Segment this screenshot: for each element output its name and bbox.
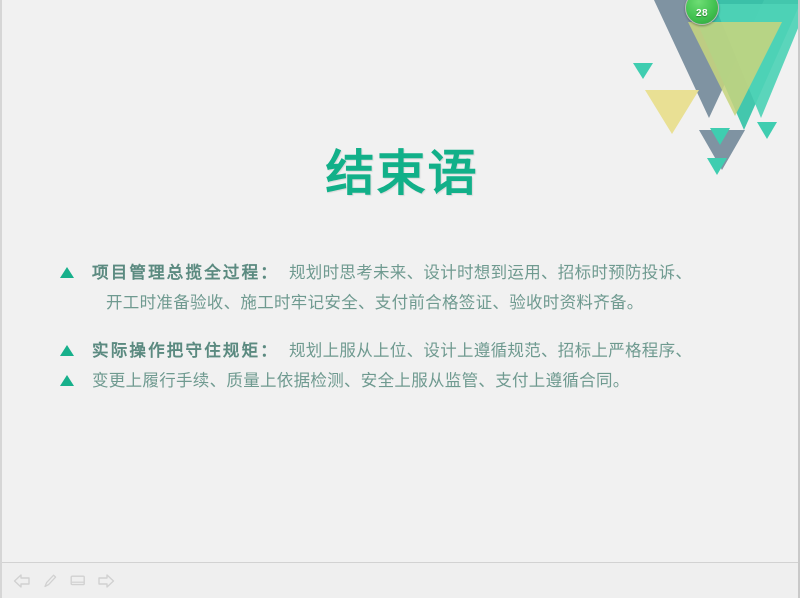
mini-triangle-icon [633,63,653,79]
olive-triangle-icon [688,22,782,116]
bullet-line-continued: 开工时准备验收、施工时牢记安全、支付前合格签证、验收时资料齐备。 [2,288,800,318]
mint-triangle-icon [714,4,800,118]
bullet-lead: 实际操作把守住规矩： [92,341,279,360]
khaki-triangle-icon [645,90,699,134]
bullet-rest: 规划上服从上位、设计上遵循规范、招标上严格程序、 [289,341,692,360]
bullet-block: 项目管理总揽全过程：规划时思考未来、设计时想到运用、招标时预防投诉、 开工时准备… [2,258,800,318]
previous-slide-button[interactable] [10,570,34,592]
presentation-window: 28 结束语 项目管理总揽全过程：规划时思考未来、设计时想到运用、招标时预防投诉… [0,0,800,598]
slide-body: 项目管理总揽全过程：规划时思考未来、设计时想到运用、招标时预防投诉、 开工时准备… [2,258,800,414]
arrow-left-icon [13,574,31,588]
arrow-right-icon [97,574,115,588]
bullet-line: 实际操作把守住规矩：规划上服从上位、设计上遵循规范、招标上严格程序、 [2,336,800,366]
bullet-text: 开工时准备验收、施工时牢记安全、支付前合格签证、验收时资料齐备。 [106,288,644,318]
slideshow-toolbar [2,562,800,598]
bullet-text: 实际操作把守住规矩：规划上服从上位、设计上遵循规范、招标上严格程序、 [92,336,692,366]
mini-triangle-icon [757,122,777,139]
next-slide-button[interactable] [94,570,118,592]
bullet-line: 变更上履行手续、质量上依据检测、安全上服从监管、支付上遵循合同。 [2,366,800,396]
slide-view-button[interactable] [66,570,90,592]
bullet-rest: 规划时思考未来、设计时想到运用、招标时预防投诉、 [289,263,692,282]
triangle-up-icon [60,345,74,356]
bullet-block: 实际操作把守住规矩：规划上服从上位、设计上遵循规范、招标上严格程序、 变更上履行… [2,336,800,396]
mini-triangle-icon [710,128,730,145]
bullet-lead: 项目管理总揽全过程： [92,263,279,282]
bullet-text: 变更上履行手续、质量上依据检测、安全上服从监管、支付上遵循合同。 [92,366,630,396]
page-title: 结束语 [2,146,800,202]
slide-number-badge[interactable]: 28 [685,0,719,25]
slide-number-value: 28 [696,9,708,24]
bullet-rest: 变更上履行手续、质量上依据检测、安全上服从监管、支付上遵循合同。 [92,371,630,390]
bullet-line: 项目管理总揽全过程：规划时思考未来、设计时想到运用、招标时预防投诉、 [2,258,800,288]
pen-icon [42,573,58,589]
triangle-up-icon [60,267,74,278]
bullet-text: 项目管理总揽全过程：规划时思考未来、设计时想到运用、招标时预防投诉、 [92,258,692,288]
slide-canvas[interactable]: 28 结束语 项目管理总揽全过程：规划时思考未来、设计时想到运用、招标时预防投诉… [2,0,800,562]
triangle-up-icon [60,375,74,386]
slide-icon [70,574,86,587]
pen-tool-button[interactable] [38,570,62,592]
bullet-rest: 开工时准备验收、施工时牢记安全、支付前合格签证、验收时资料齐备。 [106,293,644,312]
